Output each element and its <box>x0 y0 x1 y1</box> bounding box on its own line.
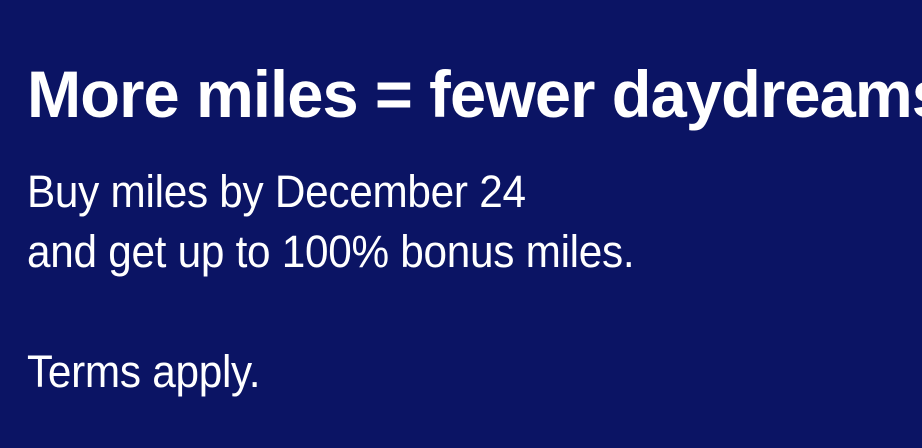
promo-terms-text: Terms apply. <box>27 342 260 402</box>
promo-banner: More miles = fewer daydreams Buy miles b… <box>0 0 922 448</box>
promo-headline: More miles = fewer daydreams <box>27 58 922 130</box>
promo-body-line-2: and get up to 100% bonus miles. <box>27 222 634 282</box>
promo-body-line-1: Buy miles by December 24 <box>27 162 634 222</box>
promo-body-copy: Buy miles by December 24 and get up to 1… <box>27 162 634 282</box>
